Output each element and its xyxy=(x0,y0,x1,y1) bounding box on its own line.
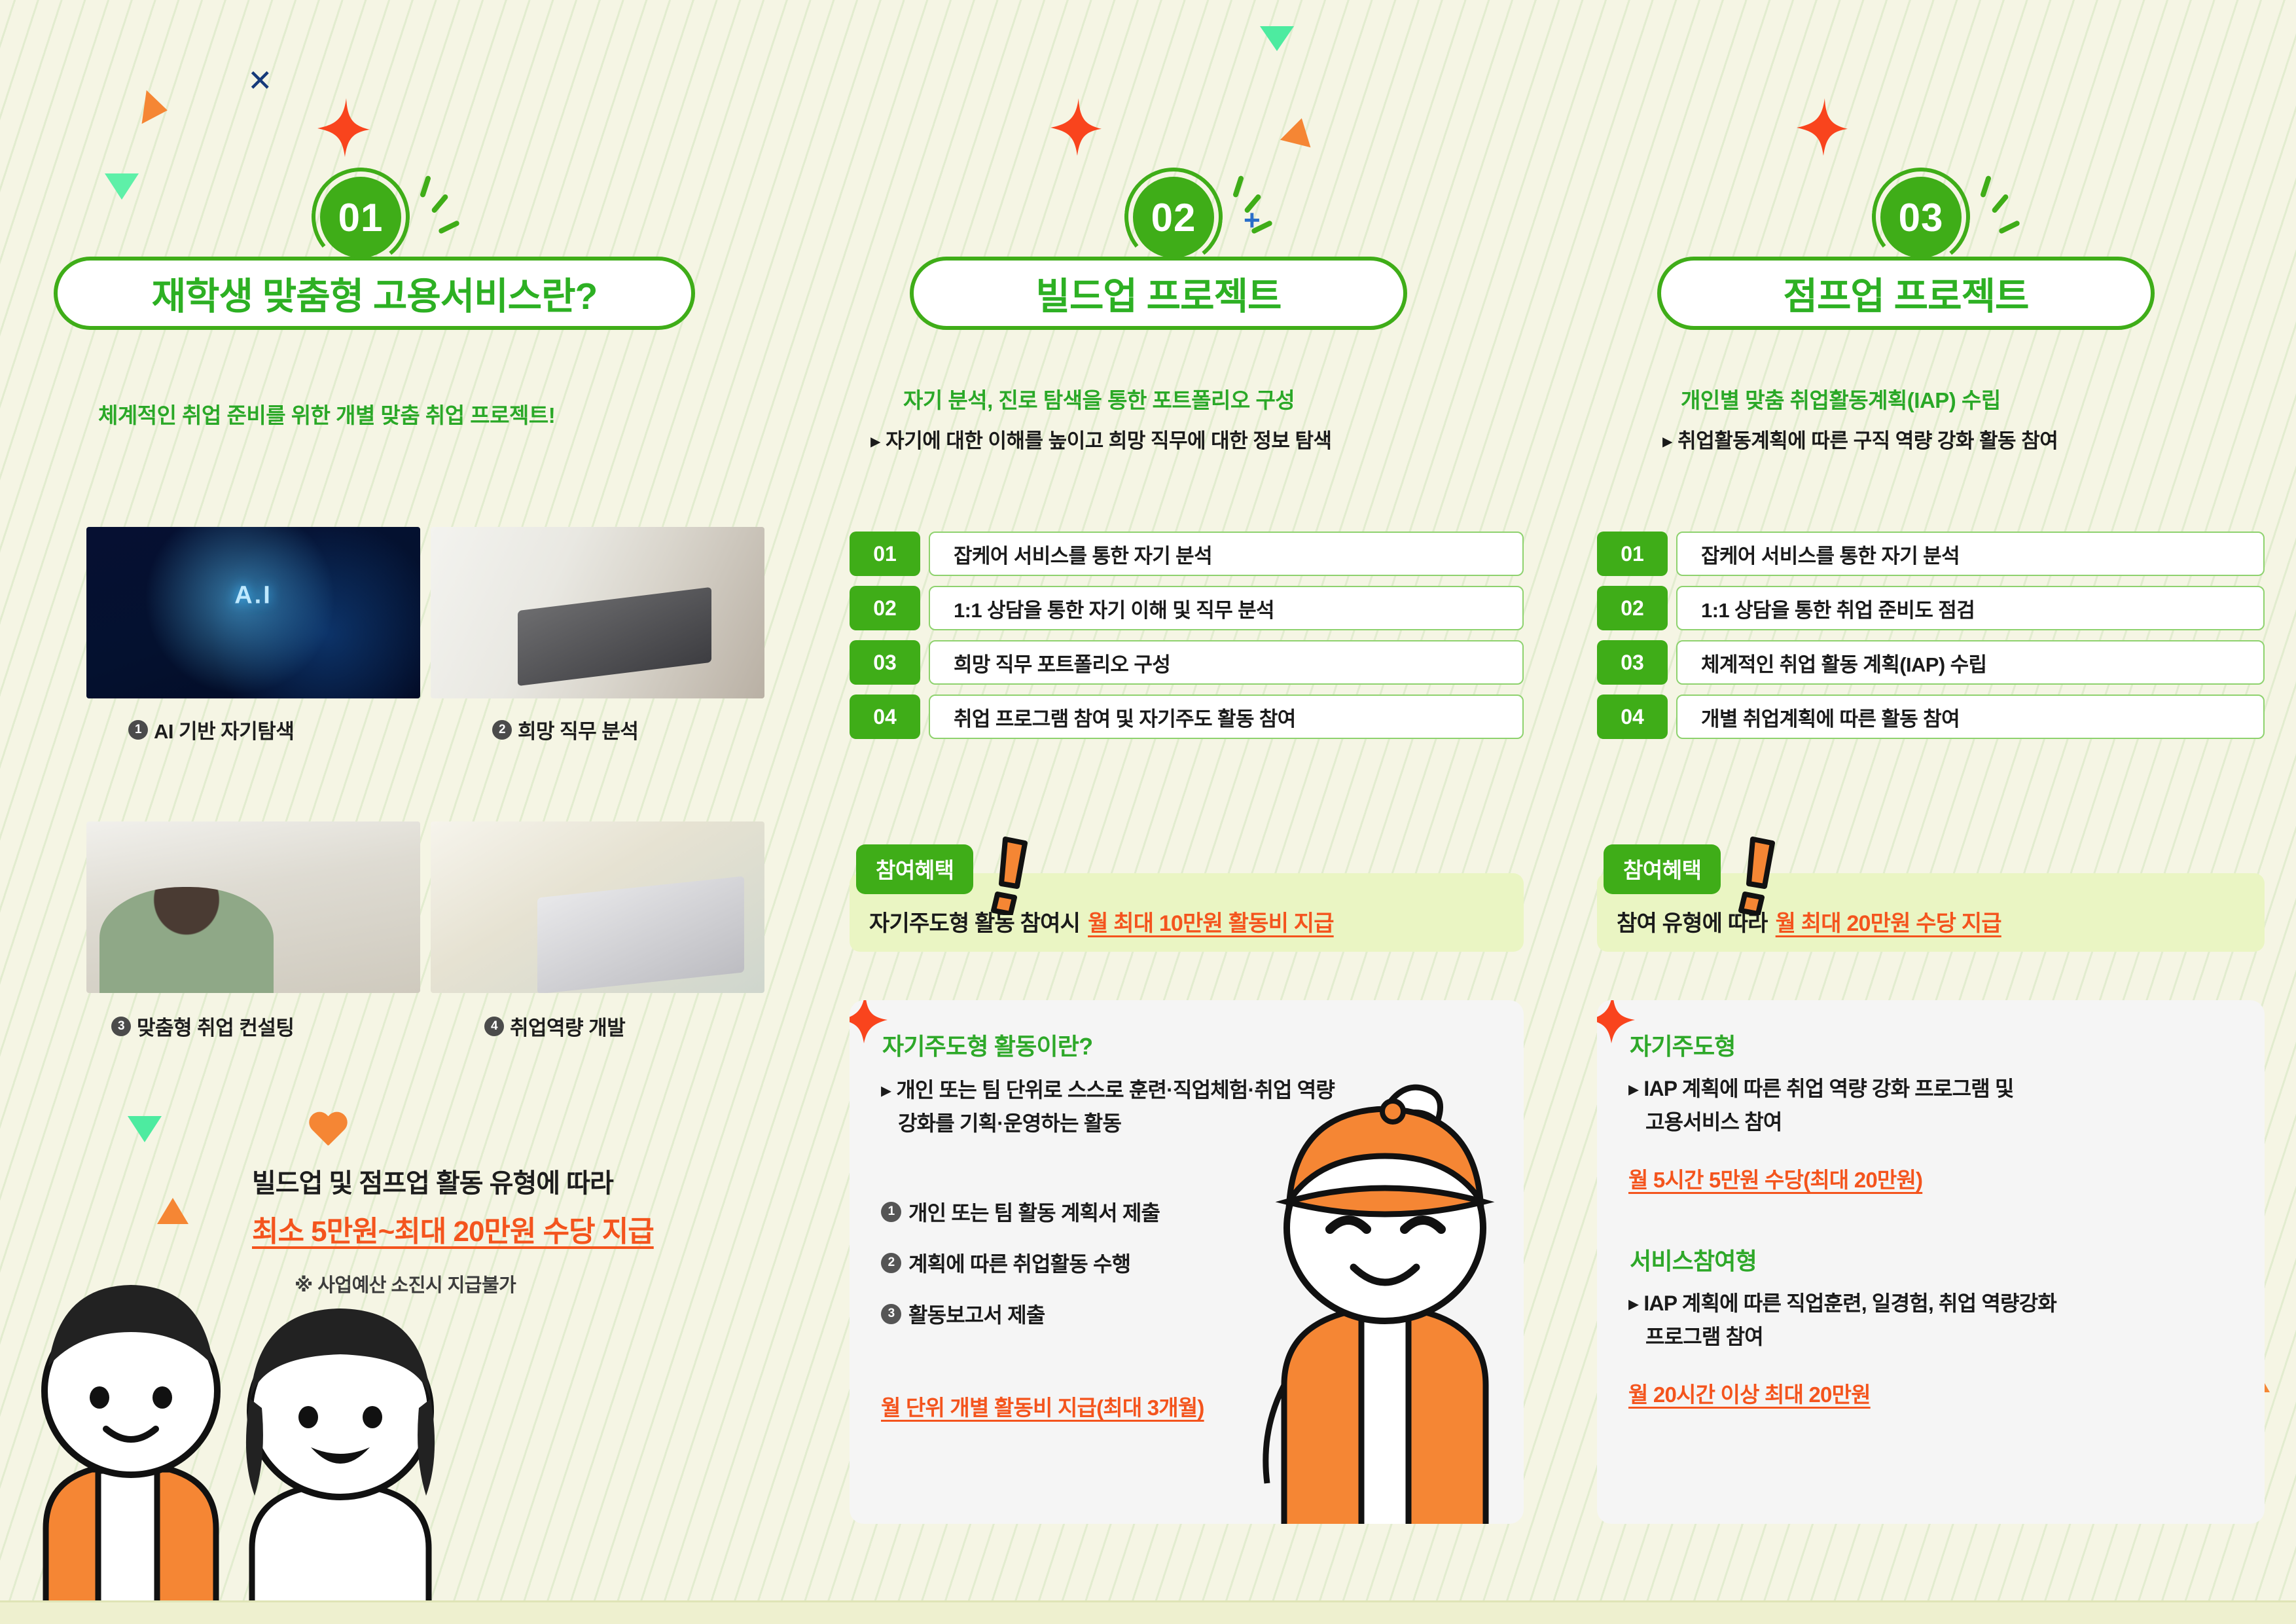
step-row[interactable]: 02 1:1 상담을 통한 취업 준비도 점검 xyxy=(1597,586,2265,630)
girl-mascot xyxy=(226,1286,455,1624)
info-step-1-02: 1 개인 또는 팀 활동 계획서 제출 xyxy=(881,1197,1160,1227)
step-row[interactable]: 04 취업 프로그램 참여 및 자기주도 활동 참여 xyxy=(850,695,1524,739)
title-pill-02: 빌드업 프로젝트 xyxy=(910,257,1407,330)
caption-number-icon-1: 1 xyxy=(128,720,148,740)
photo-laptop-desk xyxy=(431,527,764,698)
column-title-01: 재학생 맞춤형 고용서비스란? xyxy=(152,266,598,320)
step-number: 04 xyxy=(1597,695,1668,739)
title-pill-01: 재학생 맞춤형 고용서비스란? xyxy=(54,257,695,330)
photo-typing xyxy=(431,821,764,993)
photo-caption-3: 3 맞춤형 취업 컨설팅 xyxy=(111,1011,294,1041)
step-text: 체계적인 취업 활동 계획(IAP) 수립 xyxy=(1676,640,2265,685)
exclamation-icon-02 xyxy=(988,837,1034,918)
column-title-02: 빌드업 프로젝트 xyxy=(1036,266,1282,320)
benefit-text-strong-02: 월 최대 10만원 활동비 지급 xyxy=(1088,905,1334,937)
column-subtitle-dark-03: ▸ 취업활동계획에 따른 구직 역량 강화 활동 참여 xyxy=(1662,424,2058,454)
step-number: 03 xyxy=(850,640,920,685)
column-subtitle-dark-02: ▸ 자기에 대한 이해를 높이고 희망 직무에 대한 정보 탐색 xyxy=(870,424,1332,454)
step-text: 1:1 상담을 통한 취업 준비도 점검 xyxy=(1676,586,2265,630)
photo-consulting xyxy=(86,821,420,993)
boy-mascot xyxy=(20,1254,242,1623)
step-row[interactable]: 01 잡케어 서비스를 통한 자기 분석 xyxy=(850,532,1524,576)
step-number: 01 xyxy=(1597,532,1668,576)
cheering-boy-mascot xyxy=(1221,1077,1524,1524)
info-step-text-1: 개인 또는 팀 활동 계획서 제출 xyxy=(908,1197,1160,1227)
step-row[interactable]: 04 개별 취업계획에 따른 활동 참여 xyxy=(1597,695,2265,739)
exclamation-icon-03 xyxy=(1736,837,1782,918)
info-step-3-02: 3 활동보고서 제출 xyxy=(881,1299,1045,1329)
steps-list-03: 01 잡케어 서비스를 통한 자기 분석 02 1:1 상담을 통한 취업 준비… xyxy=(1597,532,2265,749)
x-mark-deco: ✕ xyxy=(247,65,273,96)
title-pill-03: 점프업 프로젝트 xyxy=(1657,257,2155,330)
step-text: 잡케어 서비스를 통한 자기 분석 xyxy=(929,532,1524,576)
number-badge-03: 03 xyxy=(1880,177,1962,258)
photo-ai-network xyxy=(86,527,420,698)
caption-number-icon-2: 2 xyxy=(492,720,512,740)
sparkle-icon-1 xyxy=(317,98,370,157)
column-subtitle-01: 체계적인 취업 준비를 위한 개별 맞춤 취업 프로젝트! xyxy=(98,398,555,429)
sparkle-icon-2 xyxy=(1050,98,1102,156)
sparkle-icon-3 xyxy=(1797,98,1848,156)
info-group2-heading-03: 서비스참여형 xyxy=(1630,1242,1757,1276)
step-number: 01 xyxy=(850,532,920,576)
info-step-number-icon-2: 2 xyxy=(881,1253,901,1273)
bottom-bar xyxy=(0,1600,2296,1624)
step-text: 취업 프로그램 참여 및 자기주도 활동 참여 xyxy=(929,695,1524,739)
number-badge-02: 02 xyxy=(1133,177,1214,258)
column-subtitle-green-03: 개인별 맞춤 취업활동계획(IAP) 수립 xyxy=(1681,383,2001,414)
info-highlight-02: 월 단위 개별 활동비 지급(최대 3개월) xyxy=(881,1390,1204,1422)
info-group2-bullet-03: ▸ IAP 계획에 따른 직업훈련, 일경험, 취업 역량강화 프로그램 참여 xyxy=(1628,1287,2250,1353)
summary-line-1: 빌드업 및 점프업 활동 유형에 따라 xyxy=(252,1162,613,1200)
info-group1-line-2: 고용서비스 참여 xyxy=(1628,1106,2244,1139)
photo-caption-2: 2 희망 직무 분석 xyxy=(492,715,638,744)
column-title-03: 점프업 프로젝트 xyxy=(1784,266,2029,320)
mint-triangle-left-deco xyxy=(128,1116,162,1142)
caption-number-icon-3: 3 xyxy=(111,1017,131,1036)
step-number: 03 xyxy=(1597,640,1668,685)
info-group1-line-1: ▸ IAP 계획에 따른 취업 역량 강화 프로그램 및 xyxy=(1628,1077,2014,1100)
step-number: 02 xyxy=(850,586,920,630)
caption-text-3: 맞춤형 취업 컨설팅 xyxy=(137,1011,294,1041)
caption-text-4: 취업역량 개발 xyxy=(510,1011,625,1041)
step-number: 04 xyxy=(850,695,920,739)
info-group1-bullet-03: ▸ IAP 계획에 따른 취업 역량 강화 프로그램 및 고용서비스 참여 xyxy=(1628,1072,2244,1138)
orange-triangle-top-deco xyxy=(1280,115,1317,147)
benefit-tag-03: 참여혜택 xyxy=(1604,844,1721,894)
heart-icon xyxy=(308,1113,348,1149)
info-group2-line-2: 프로그램 참여 xyxy=(1628,1320,2250,1354)
orange-triangle-left-deco xyxy=(157,1198,188,1224)
info-card-02: 자기주도형 활동이란? ▸ 개인 또는 팀 단위로 스스로 훈련·직업체험·취업… xyxy=(850,1000,1524,1524)
benefit-text-normal-02: 자기주도형 활동 참여시 xyxy=(869,905,1080,937)
steps-list-02: 01 잡케어 서비스를 통한 자기 분석 02 1:1 상담을 통한 자기 이해… xyxy=(850,532,1524,749)
step-text: 희망 직무 포트폴리오 구성 xyxy=(929,640,1524,685)
info-group2-line-1: ▸ IAP 계획에 따른 직업훈련, 일경험, 취업 역량강화 xyxy=(1628,1291,2056,1315)
mint-triangle-deco xyxy=(105,173,139,200)
step-row[interactable]: 03 체계적인 취업 활동 계획(IAP) 수립 xyxy=(1597,640,2265,685)
orange-triangle-deco xyxy=(142,90,170,128)
info-group1-heading-03: 자기주도형 xyxy=(1630,1028,1736,1062)
mint-triangle-top-deco xyxy=(1260,26,1294,51)
summary-line-2: 최소 5만원~최대 20만원 수당 지급 xyxy=(252,1208,654,1250)
info-card-03: 자기주도형 ▸ IAP 계획에 따른 취업 역량 강화 프로그램 및 고용서비스… xyxy=(1597,1000,2265,1524)
number-badge-01: 01 xyxy=(320,177,401,258)
step-row[interactable]: 01 잡케어 서비스를 통한 자기 분석 xyxy=(1597,532,2265,576)
info-step-number-icon-3: 3 xyxy=(881,1304,901,1324)
benefit-text-strong-03: 월 최대 20만원 수당 지급 xyxy=(1776,905,2001,937)
caption-text-1: AI 기반 자기탐색 xyxy=(154,715,294,744)
benefit-tag-02: 참여혜택 xyxy=(856,844,973,894)
caption-text-2: 희망 직무 분석 xyxy=(518,715,638,744)
photo-caption-1: 1 AI 기반 자기탐색 xyxy=(128,715,294,744)
step-row[interactable]: 03 희망 직무 포트폴리오 구성 xyxy=(850,640,1524,685)
step-text: 개별 취업계획에 따른 활동 참여 xyxy=(1676,695,2265,739)
info-heading-02: 자기주도형 활동이란? xyxy=(882,1028,1092,1062)
caption-number-icon-4: 4 xyxy=(484,1017,504,1036)
photo-caption-4: 4 취업역량 개발 xyxy=(484,1011,625,1041)
step-text: 잡케어 서비스를 통한 자기 분석 xyxy=(1676,532,2265,576)
step-row[interactable]: 02 1:1 상담을 통한 자기 이해 및 직무 분석 xyxy=(850,586,1524,630)
info-group1-highlight-03: 월 5시간 5만원 수당(최대 20만원) xyxy=(1628,1163,1922,1194)
info-step-2-02: 2 계획에 따른 취업활동 수행 xyxy=(881,1248,1130,1278)
info-step-text-3: 활동보고서 제출 xyxy=(908,1299,1045,1329)
info-step-number-icon-1: 1 xyxy=(881,1202,901,1222)
step-number: 02 xyxy=(1597,586,1668,630)
column-subtitle-green-02: 자기 분석, 진로 탐색을 통한 포트폴리오 구성 xyxy=(903,383,1295,414)
infographic-page: ✕ + + 01 재학생 맞춤형 고용서비스란? 체계적인 취업 준비를 위한 … xyxy=(0,0,2296,1624)
info-step-text-2: 계획에 따른 취업활동 수행 xyxy=(908,1248,1130,1278)
info-group2-highlight-03: 월 20시간 이상 최대 20만원 xyxy=(1628,1377,1871,1409)
step-text: 1:1 상담을 통한 자기 이해 및 직무 분석 xyxy=(929,586,1524,630)
